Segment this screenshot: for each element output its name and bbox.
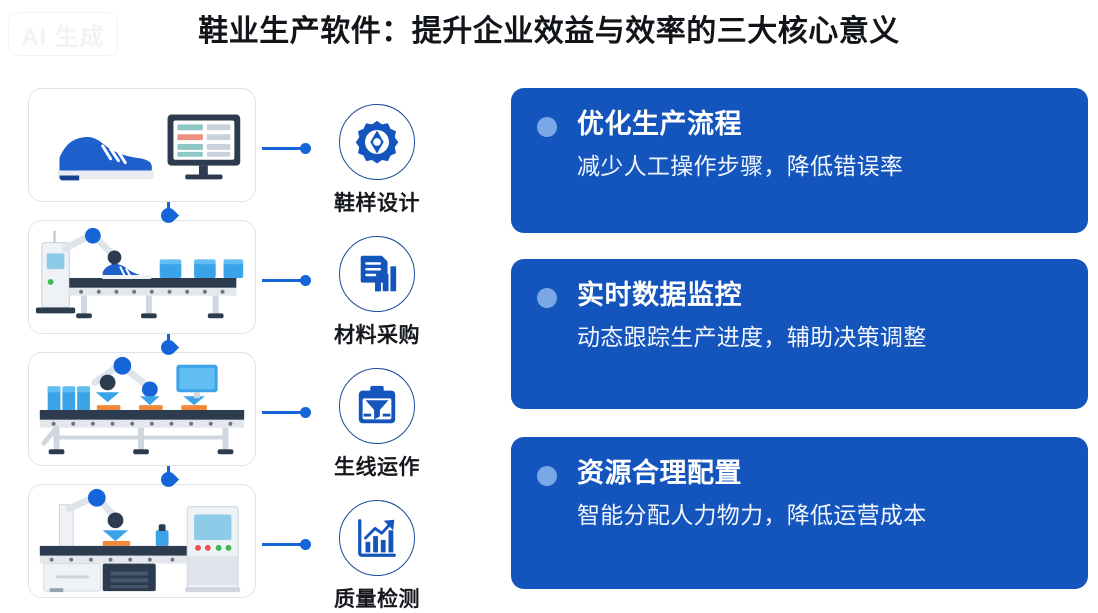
inspection-machine-icon <box>29 485 255 597</box>
production-line-icon <box>29 353 255 465</box>
slide-canvas: AI 生成 鞋业生产软件：提升企业效益与效率的三大核心意义 <box>0 0 1098 608</box>
benefit-title: 资源合理配置 <box>577 457 1062 489</box>
step-connector-dot-1 <box>300 143 311 154</box>
step-label: 材料采购 <box>331 319 423 349</box>
benefit-card-1[interactable]: 优化生产流程 减少人工操作步骤，降低错误率 <box>511 88 1088 233</box>
step-connector-dot-4 <box>300 539 311 550</box>
clipboard-funnel-icon <box>339 368 415 444</box>
step-connector-line-1 <box>262 147 304 150</box>
benefit-card-3[interactable]: 资源合理配置 智能分配人力物力，降低运营成本 <box>511 437 1088 589</box>
shoe-design-illustration <box>28 88 256 202</box>
benefit-description: 动态跟踪生产进度，辅助决策调整 <box>577 323 1062 352</box>
benefit-description: 智能分配人力物力，降低运营成本 <box>577 501 1062 530</box>
step-label: 鞋样设计 <box>331 187 423 217</box>
bullet-icon <box>537 466 557 486</box>
production-line-illustration <box>28 352 256 466</box>
inspection-machine-illustration <box>28 484 256 598</box>
step-label: 生线运作 <box>331 451 423 481</box>
shoe-design-icon <box>29 89 255 201</box>
document-chart-icon <box>339 236 415 312</box>
step-material-purchase[interactable]: 材料采购 <box>331 236 423 349</box>
growth-chart-icon <box>339 500 415 576</box>
step-line-operation[interactable]: 生线运作 <box>331 368 423 481</box>
step-connector-line-4 <box>262 543 304 546</box>
design-badge-icon <box>339 104 415 180</box>
benefit-title: 优化生产流程 <box>577 108 1062 140</box>
bullet-icon <box>537 288 557 308</box>
benefit-description: 减少人工操作步骤，降低错误率 <box>577 152 1062 181</box>
conveyor-robot-icon <box>29 221 255 333</box>
conveyor-robot-illustration <box>28 220 256 334</box>
bullet-icon <box>537 117 557 137</box>
step-connector-line-3 <box>262 411 304 414</box>
page-title: 鞋业生产软件：提升企业效益与效率的三大核心意义 <box>0 6 1098 50</box>
benefit-title: 实时数据监控 <box>577 279 1062 311</box>
benefit-card-2[interactable]: 实时数据监控 动态跟踪生产进度，辅助决策调整 <box>511 259 1088 409</box>
step-connector-line-2 <box>262 279 304 282</box>
step-connector-dot-2 <box>300 275 311 286</box>
step-connector-dot-3 <box>300 407 311 418</box>
step-shoe-design[interactable]: 鞋样设计 <box>331 104 423 217</box>
step-label: 质量检测 <box>331 583 423 613</box>
step-quality-inspection[interactable]: 质量检测 <box>331 500 423 613</box>
